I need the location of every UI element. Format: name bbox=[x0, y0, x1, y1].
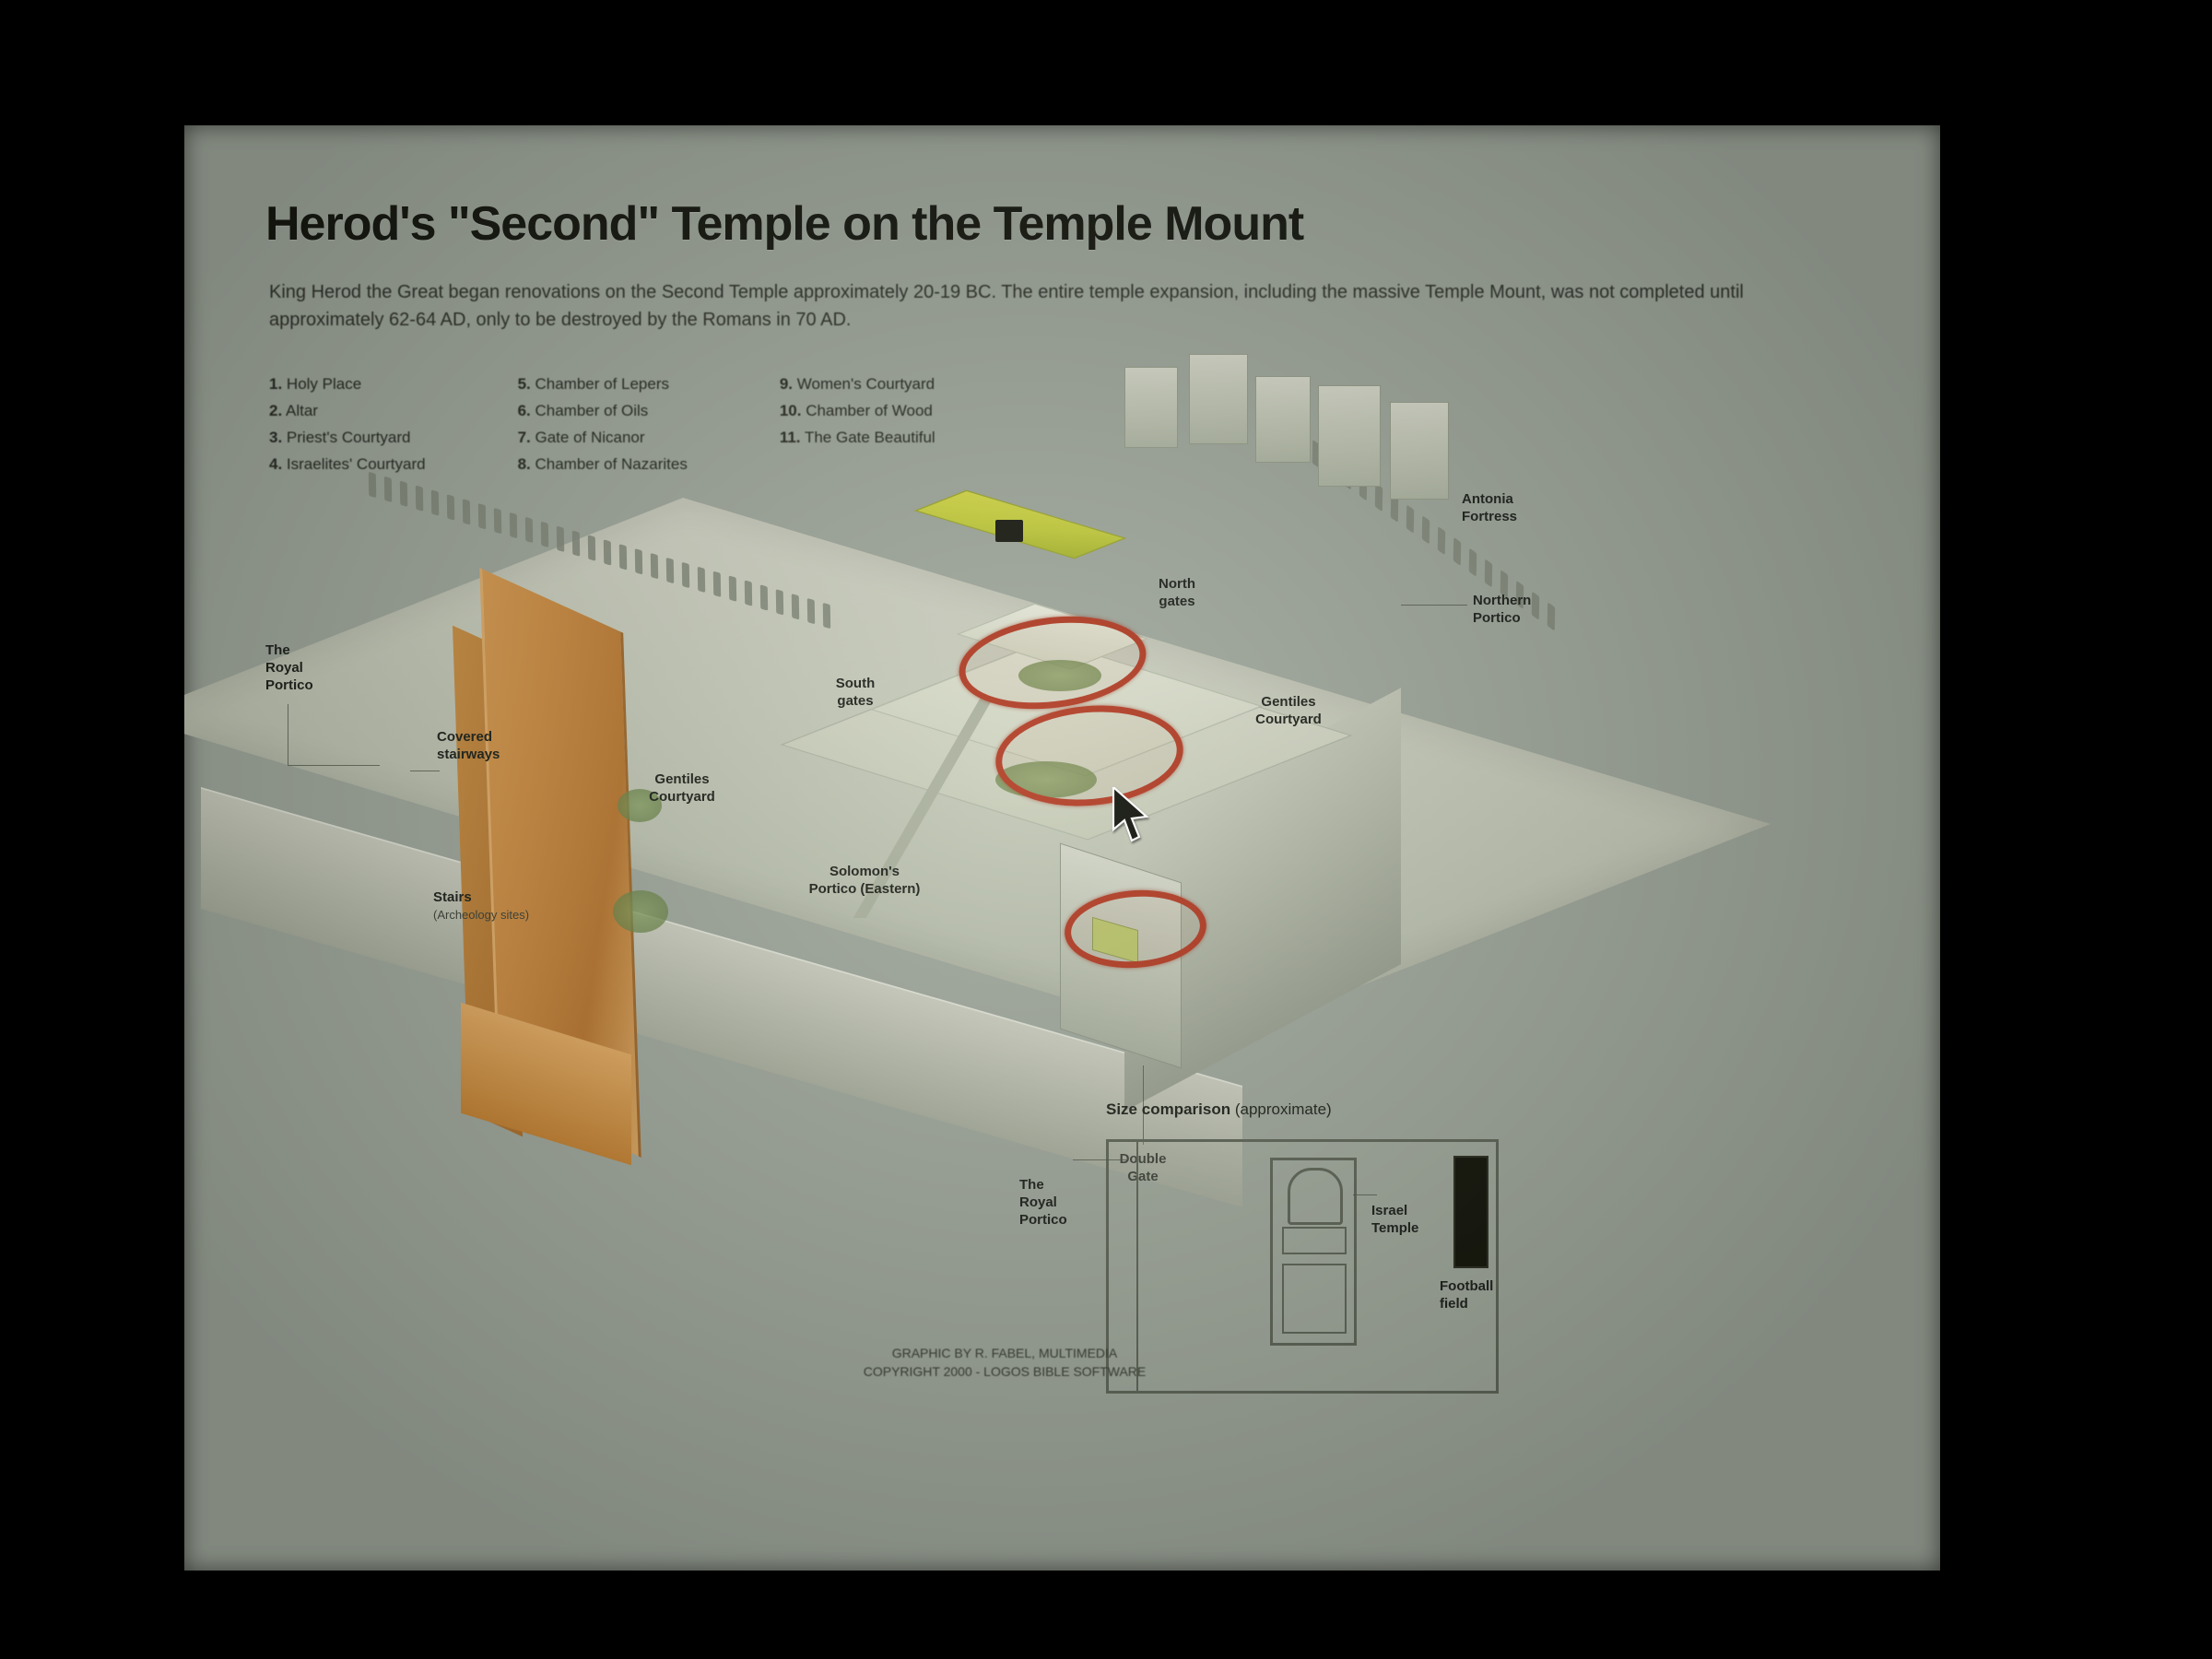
leader-size-temple bbox=[1353, 1194, 1377, 1195]
legend-column-3: 9. Women's Courtyard 10. Chamber of Wood… bbox=[780, 374, 935, 475]
mouse-cursor bbox=[1112, 787, 1154, 844]
size-label-temple: Israel Temple bbox=[1371, 1202, 1460, 1237]
temple-court-divider bbox=[1282, 1227, 1347, 1254]
temple-court-lower bbox=[1282, 1264, 1347, 1334]
callout-northern-portico: Northern Portico bbox=[1473, 592, 1602, 627]
credit-line-1: GRAPHIC BY R. FABEL, MULTIMEDIA bbox=[774, 1344, 1235, 1362]
callout-solomons-portico: Solomon's Portico (Eastern) bbox=[782, 863, 947, 898]
size-comparison-title-suffix: (approximate) bbox=[1230, 1100, 1332, 1118]
callout-stairs: Stairs (Archeology sites) bbox=[433, 888, 599, 924]
leader-covered-stairways bbox=[410, 771, 440, 771]
temple-facade-shape bbox=[1288, 1168, 1343, 1225]
callout-gentiles-courtyard-left: Gentiles Courtyard bbox=[618, 771, 747, 806]
stairs-greenery-2 bbox=[613, 890, 668, 933]
temple-size-glyph bbox=[1270, 1158, 1357, 1346]
size-label-royal-portico: The Royal Portico bbox=[1019, 1176, 1102, 1229]
leader-size-royal-portico bbox=[1073, 1159, 1128, 1160]
callout-line: Temple bbox=[1371, 1219, 1460, 1237]
callout-antonia-fortress: Antonia Fortress bbox=[1462, 490, 1582, 525]
size-label-football-field: Football field bbox=[1440, 1277, 1541, 1312]
size-comparison-title: Size comparison (approximate) bbox=[1106, 1100, 1332, 1119]
legend-column-2: 5. Chamber of Lepers 6. Chamber of Oils … bbox=[518, 374, 688, 475]
presentation-slide: Herod's "Second" Temple on the Temple Mo… bbox=[184, 125, 1940, 1571]
callout-line: Gentiles bbox=[618, 771, 747, 788]
callout-royal-portico: The Royal Portico bbox=[265, 641, 367, 694]
legend: 1. Holy Place 2. Altar 3. Priest's Court… bbox=[269, 374, 1357, 475]
callout-line: Royal bbox=[265, 659, 367, 677]
callout-south-gates: South gates bbox=[809, 675, 901, 710]
antonia-tower-5 bbox=[1390, 402, 1449, 500]
callout-line: Northern bbox=[1473, 592, 1602, 609]
gatehouse-number-badge bbox=[995, 520, 1023, 542]
callout-line: Stairs bbox=[433, 888, 599, 906]
callout-line: Gentiles bbox=[1224, 693, 1353, 711]
legend-item: 7. Gate of Nicanor bbox=[518, 428, 688, 448]
callout-line: Antonia bbox=[1462, 490, 1582, 508]
callout-line: Portico bbox=[265, 677, 367, 694]
legend-item: 1. Holy Place bbox=[269, 374, 426, 394]
callout-line: Courtyard bbox=[1224, 711, 1353, 728]
callout-line: Football bbox=[1440, 1277, 1541, 1295]
legend-item: 10. Chamber of Wood bbox=[780, 401, 935, 421]
callout-line: Royal bbox=[1019, 1194, 1102, 1211]
projector-screen: Herod's "Second" Temple on the Temple Mo… bbox=[0, 0, 2212, 1659]
callout-line: stairways bbox=[437, 746, 566, 763]
legend-item: 9. Women's Courtyard bbox=[780, 374, 935, 394]
legend-column-1: 1. Holy Place 2. Altar 3. Priest's Court… bbox=[269, 374, 426, 475]
callout-line: Portico bbox=[1473, 609, 1602, 627]
callout-line: Fortress bbox=[1462, 508, 1582, 525]
credit-line-2: COPYRIGHT 2000 - LOGOS BIBLE SOFTWARE bbox=[774, 1362, 1235, 1381]
callout-line: gates bbox=[1126, 593, 1228, 610]
legend-item: 5. Chamber of Lepers bbox=[518, 374, 688, 394]
legend-item: 4. Israelites' Courtyard bbox=[269, 454, 426, 475]
legend-item: 3. Priest's Courtyard bbox=[269, 428, 426, 448]
callout-line: South bbox=[809, 675, 901, 692]
callout-line: The bbox=[265, 641, 367, 659]
callout-line: The bbox=[1019, 1176, 1102, 1194]
graphic-credit: GRAPHIC BY R. FABEL, MULTIMEDIA COPYRIGH… bbox=[774, 1344, 1235, 1381]
callout-covered-stairways: Covered stairways bbox=[437, 728, 566, 763]
callout-gentiles-courtyard-right: Gentiles Courtyard bbox=[1224, 693, 1353, 728]
callout-subline: (Archeology sites) bbox=[433, 906, 599, 924]
callout-line: Israel bbox=[1371, 1202, 1460, 1219]
intro-paragraph: King Herod the Great began renovations o… bbox=[269, 278, 1836, 334]
callout-line: gates bbox=[809, 692, 901, 710]
legend-item: 6. Chamber of Oils bbox=[518, 401, 688, 421]
legend-item: 11. The Gate Beautiful bbox=[780, 428, 935, 448]
legend-item: 2. Altar bbox=[269, 401, 426, 421]
callout-line: Portico (Eastern) bbox=[782, 880, 947, 898]
callout-line: Courtyard bbox=[618, 788, 747, 806]
leader-northern-portico bbox=[1401, 605, 1467, 606]
leader-royal-portico-h bbox=[288, 765, 380, 766]
page-title: Herod's "Second" Temple on the Temple Mo… bbox=[265, 196, 1648, 252]
callout-line: Solomon's bbox=[782, 863, 947, 880]
callout-line: North bbox=[1126, 575, 1228, 593]
callout-line: Covered bbox=[437, 728, 566, 746]
callout-north-gates: North gates bbox=[1126, 575, 1228, 610]
callout-line: field bbox=[1440, 1295, 1541, 1312]
size-comparison-title-main: Size comparison bbox=[1106, 1100, 1230, 1118]
callout-line: Portico bbox=[1019, 1211, 1102, 1229]
leader-royal-portico bbox=[288, 704, 288, 765]
legend-item: 8. Chamber of Nazarites bbox=[518, 454, 688, 475]
